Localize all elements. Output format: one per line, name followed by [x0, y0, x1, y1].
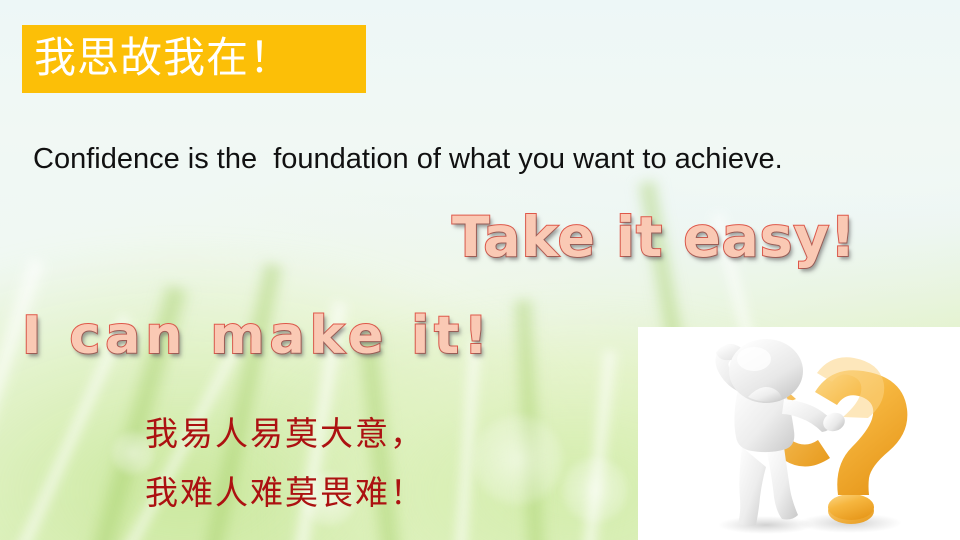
wordart-take-it-easy: Take it easy! — [452, 205, 856, 269]
title-banner-text: 我思故我在！ — [34, 38, 292, 80]
bokeh-circle-icon — [560, 455, 630, 525]
couplet-line-2: 我难人难莫畏难！ — [145, 465, 425, 524]
picture-panel: 3D white figure scratching head beside l… — [638, 327, 960, 540]
slide-canvas: 我思故我在！ Confidence is the foundation of w… — [0, 0, 960, 540]
chinese-couplet: 我易人易莫大意， 我难人难莫畏难！ — [145, 406, 425, 523]
english-subtitle-text: Confidence is the foundation of what you… — [33, 142, 933, 177]
title-banner: 我思故我在！ — [22, 25, 366, 93]
couplet-line-1: 我易人易莫大意， — [145, 406, 425, 465]
wordart-i-can-make-it: I can make it! — [22, 306, 493, 366]
bokeh-circle-icon — [470, 412, 566, 508]
thinking-person-illustration — [638, 327, 960, 540]
